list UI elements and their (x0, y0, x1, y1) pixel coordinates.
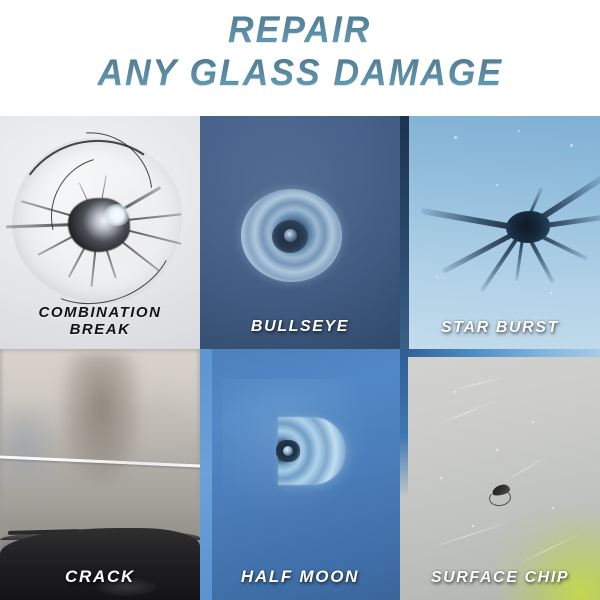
caption-bullseye: BULLSEYE (200, 318, 400, 336)
grid-cell-combination-break[interactable]: COMBINATION BREAK (0, 116, 200, 349)
headline-line-1: REPAIR (228, 11, 371, 48)
caption-combination-break: COMBINATION BREAK (0, 305, 200, 339)
grid-cell-surface-chip[interactable]: SURFACE CHIP (400, 349, 600, 600)
grid-cell-half-moon[interactable]: HALF MOON (200, 349, 400, 600)
grid-cell-star-burst[interactable]: STAR BURST (400, 116, 600, 349)
crack-image (0, 349, 200, 600)
poster: REPAIR ANY GLASS DAMAGE (0, 0, 600, 600)
grid-cell-bullseye[interactable]: BULLSEYE (200, 116, 400, 349)
caption-surface-chip: SURFACE CHIP (400, 569, 600, 587)
caption-crack: CRACK (0, 567, 200, 586)
bullseye-image (200, 116, 400, 349)
surface-chip-image (400, 349, 600, 600)
star-burst-image (400, 116, 600, 349)
damage-type-grid: COMBINATION BREAK BULLSEYE (0, 116, 600, 600)
half-moon-image (200, 349, 400, 600)
grid-cell-crack[interactable]: CRACK (0, 349, 200, 600)
caption-half-moon: HALF MOON (200, 567, 400, 586)
headline-block: REPAIR ANY GLASS DAMAGE (0, 0, 600, 116)
headline-line-2: ANY GLASS DAMAGE (97, 54, 503, 91)
caption-star-burst: STAR BURST (400, 319, 600, 337)
